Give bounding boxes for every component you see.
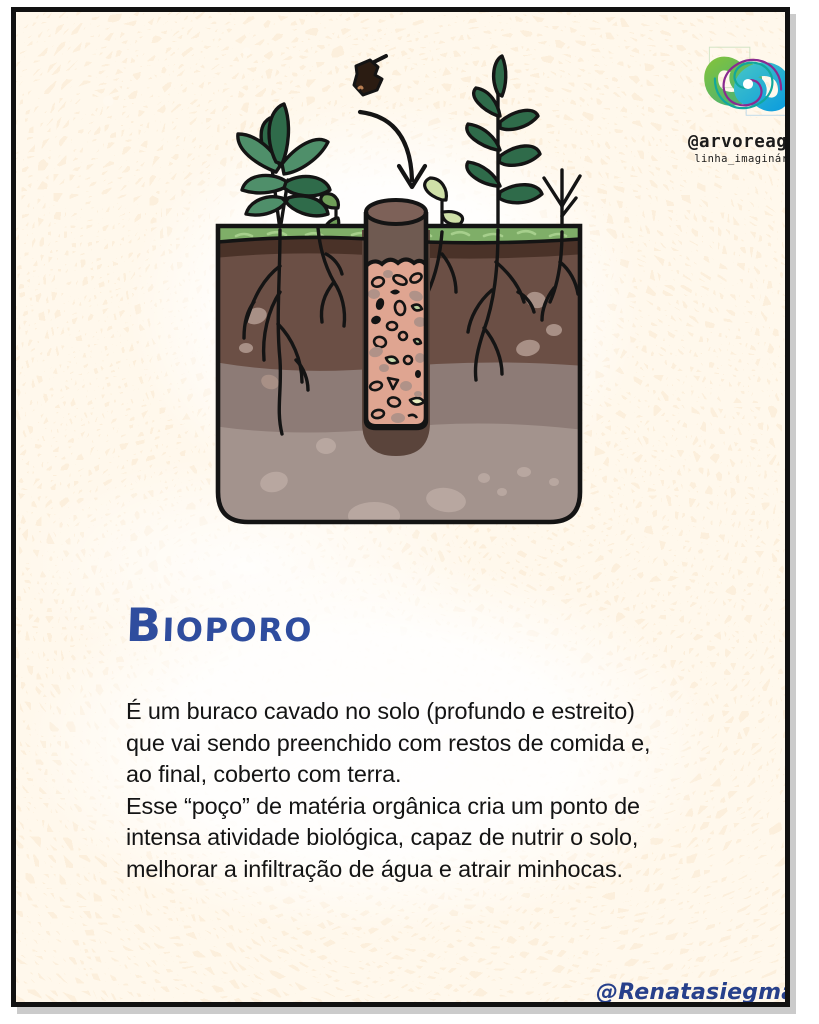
brand-logo: @arvoreagua linha_imaginária [688, 38, 790, 178]
logo-subtitle-text: linha_imaginária [688, 153, 790, 165]
logo-handle-text: @arvoreagua [688, 132, 790, 152]
biopore-hole [366, 200, 426, 428]
arvoreagua-spiral-icon [702, 38, 790, 130]
body-text: É um buraco cavado no solo (profundo e e… [126, 696, 766, 886]
soil-cross-section-illustration [184, 30, 614, 540]
author-signature: @Renatasiegmann [596, 980, 790, 1005]
page-title: Bioporo [125, 598, 687, 652]
leafy-plant-left [238, 104, 330, 230]
plant-right [467, 56, 542, 234]
poster-card: @arvoreagua linha_imaginária [11, 7, 790, 1007]
curved-arrow-icon [360, 112, 425, 187]
